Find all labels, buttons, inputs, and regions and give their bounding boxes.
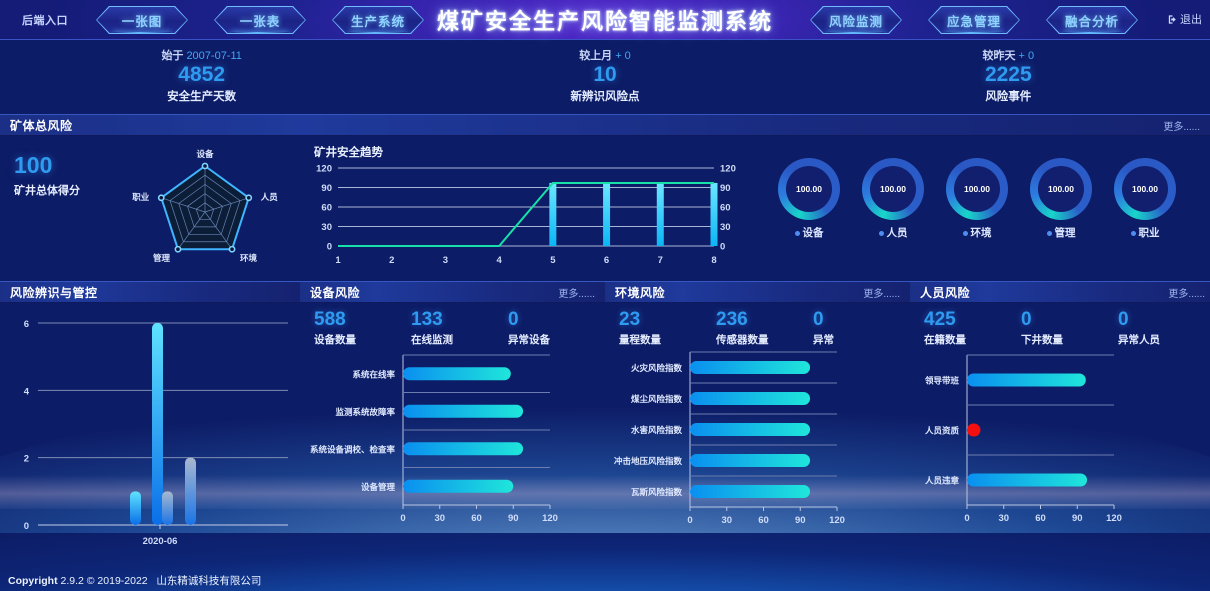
environment-stat-abnormal: 0 异常 — [813, 310, 910, 347]
risk-identify-panel-title: 风险辨识与管控 — [10, 284, 98, 301]
gauge-3: 100.00管理 — [1030, 158, 1092, 240]
svg-text:瓦斯风险指数: 瓦斯风险指数 — [631, 487, 683, 497]
svg-text:60: 60 — [758, 515, 769, 526]
gauge-label-4: 职业 — [1114, 225, 1176, 240]
hbar-chart-environment-risk: 0306090120火灾风险指数煤尘风险指数水害风险指数冲击地压风险指数瓦斯风险… — [605, 347, 910, 537]
svg-text:30: 30 — [321, 222, 332, 233]
environment-stats: 23 量程数量 236 传感器数量 0 异常 — [605, 303, 910, 347]
footer-version: 2.9.2 — [61, 575, 84, 587]
gauge-ring-1: 100.00 — [862, 158, 924, 220]
svg-text:30: 30 — [721, 515, 732, 526]
svg-text:6: 6 — [604, 255, 609, 266]
gauge-label-3: 管理 — [1030, 225, 1092, 240]
environment-stat-2-value: 0 — [813, 310, 910, 331]
svg-text:90: 90 — [1072, 513, 1083, 524]
nav-button-one-table[interactable]: 一张表 — [214, 6, 306, 34]
equipment-stat-count: 588 设备数量 — [314, 310, 411, 347]
svg-text:30: 30 — [720, 222, 731, 233]
svg-text:0: 0 — [687, 515, 692, 526]
svg-text:30: 30 — [998, 513, 1009, 524]
logout-label: 退出 — [1180, 11, 1202, 27]
gauge-1: 100.00人员 — [862, 158, 924, 240]
svg-text:90: 90 — [508, 513, 519, 524]
gauge-ring-3: 100.00 — [1030, 158, 1092, 220]
nav-button-emergency-management-label: 应急管理 — [947, 11, 1001, 30]
environment-stat-2-label: 异常 — [813, 332, 910, 347]
environment-stat-1-value: 236 — [716, 310, 813, 331]
kpi-risk-events: 较昨天+ 0 2225 风险事件 — [807, 40, 1210, 114]
kpi-1-value: 10 — [403, 63, 806, 87]
equipment-stat-0-value: 588 — [314, 310, 411, 331]
gauge-value-3: 100.00 — [1048, 184, 1074, 194]
logout-icon — [1167, 14, 1178, 25]
mine-score-and-radar: 100 矿井总体得分 设备人员环境管理职业 — [0, 136, 300, 281]
personnel-stat-1-label: 下井数量 — [1021, 332, 1118, 347]
svg-text:监测系统故障率: 监测系统故障率 — [335, 407, 395, 417]
svg-text:人员资质: 人员资质 — [925, 425, 960, 435]
total-risk-section: 矿体总风险 更多...... 100 矿井总体得分 设备人员环境管理职业 矿井安… — [0, 114, 1210, 281]
equipment-stat-online: 133 在线监测 — [411, 310, 508, 347]
line-chart-mine-safety-trend: 0030306060909012012012345678 — [306, 162, 766, 274]
svg-text:人员: 人员 — [261, 192, 279, 202]
environment-stat-range: 23 量程数量 — [619, 310, 716, 347]
kpi-new-risk-points: 较上月+ 0 10 新辨识风险点 — [403, 40, 806, 114]
kpi-2-value: 2225 — [807, 63, 1210, 87]
gauge-value-2: 100.00 — [964, 184, 990, 194]
mine-safety-trend-chart-wrap: 矿井安全趋势 0030306060909012012012345678 — [300, 136, 770, 281]
logout-button[interactable]: 退出 — [1167, 11, 1202, 27]
hbar-chart-personnel-risk: 0306090120领导带班人员资质人员违章 — [910, 347, 1210, 537]
radar-chart-total-risk: 设备人员环境管理职业 — [115, 144, 295, 274]
environment-panel-header: 环境风险 更多...... — [605, 281, 910, 303]
environment-risk-panel: 环境风险 更多...... 23 量程数量 236 传感器数量 0 异常 030… — [605, 281, 910, 558]
svg-text:60: 60 — [321, 203, 332, 214]
equipment-stats: 588 设备数量 133 在线监测 0 异常设备 — [300, 303, 605, 347]
gauge-4: 100.00职业 — [1114, 158, 1176, 240]
svg-text:0: 0 — [964, 513, 969, 524]
environment-stat-1-label: 传感器数量 — [716, 332, 813, 347]
nav-button-fusion-analysis[interactable]: 融合分析 — [1046, 6, 1138, 34]
kpi-0-compare-label: 始于 — [161, 50, 183, 62]
svg-text:水害风险指数: 水害风险指数 — [630, 425, 683, 435]
nav-button-one-map-label: 一张图 — [122, 11, 163, 30]
kpi-1-compare-value: + 0 — [615, 50, 631, 62]
risk-identify-panel-header: 风险辨识与管控 — [0, 281, 300, 303]
equipment-stat-1-value: 133 — [411, 310, 508, 331]
mine-total-score-label: 矿井总体得分 — [14, 182, 80, 198]
nav-button-production-system-label: 生产系统 — [351, 11, 405, 30]
svg-text:设备: 设备 — [196, 149, 214, 159]
environment-stat-0-value: 23 — [619, 310, 716, 331]
svg-text:4: 4 — [496, 255, 502, 266]
kpi-2-label: 风险事件 — [807, 88, 1210, 104]
mine-total-score-value: 100 — [14, 154, 80, 177]
environment-stat-sensors: 236 传感器数量 — [716, 310, 813, 347]
gauge-0: 100.00设备 — [778, 158, 840, 240]
svg-text:60: 60 — [720, 203, 731, 214]
bar-chart-risk-identify: 02462020-06 — [0, 303, 300, 558]
svg-text:0: 0 — [24, 521, 29, 532]
nav-button-fusion-analysis-label: 融合分析 — [1065, 11, 1119, 30]
kpi-2-compare-label: 较昨天 — [983, 50, 1016, 62]
svg-text:煤尘风险指数: 煤尘风险指数 — [631, 394, 683, 404]
nav-button-risk-monitoring-label: 风险监测 — [829, 11, 883, 30]
svg-text:管理: 管理 — [153, 253, 171, 263]
app-header: 后端入口 一张图 一张表 生产系统 煤矿安全生产风险智能监测系统 风险监测 应急… — [0, 0, 1210, 40]
equipment-stat-abnormal: 0 异常设备 — [508, 310, 605, 347]
equipment-panel-header: 设备风险 更多...... — [300, 281, 605, 303]
kpi-0-label: 安全生产天数 — [0, 88, 403, 104]
equipment-panel-title: 设备风险 — [310, 284, 360, 301]
gauge-label-2: 环境 — [946, 225, 1008, 240]
personnel-stat-2-value: 0 — [1118, 310, 1210, 331]
equipment-more-link[interactable]: 更多...... — [558, 285, 595, 300]
equipment-risk-panel: 设备风险 更多...... 588 设备数量 133 在线监测 0 异常设备 0… — [300, 281, 605, 558]
svg-text:120: 120 — [1106, 513, 1122, 524]
personnel-stats: 425 在籍数量 0 下井数量 0 异常人员 — [910, 303, 1210, 347]
category-gauges-wrap: 100.00设备100.00人员100.00环境100.00管理100.00职业 — [770, 136, 1210, 281]
footer-copyright-label: Copyright — [8, 575, 58, 587]
svg-text:7: 7 — [658, 255, 663, 266]
svg-text:90: 90 — [795, 515, 806, 526]
bottom-panels-row: 风险辨识与管控 02462020-06 设备风险 更多...... 588 设备… — [0, 281, 1210, 558]
personnel-risk-panel: 人员风险 更多...... 425 在籍数量 0 下井数量 0 异常人员 030… — [910, 281, 1210, 558]
gauge-value-0: 100.00 — [796, 184, 822, 194]
nav-button-one-table-label: 一张表 — [240, 11, 281, 30]
personnel-stat-2-label: 异常人员 — [1118, 332, 1210, 347]
kpi-safe-production-days: 始于2007-07-11 4852 安全生产天数 — [0, 40, 403, 114]
total-risk-body: 100 矿井总体得分 设备人员环境管理职业 矿井安全趋势 00303060609… — [0, 136, 1210, 281]
footer-years: © 2019-2022 — [87, 575, 148, 587]
svg-text:环境: 环境 — [240, 253, 258, 263]
total-risk-panel-header: 矿体总风险 更多...... — [0, 114, 1210, 136]
svg-text:2: 2 — [24, 454, 29, 465]
environment-stat-0-label: 量程数量 — [619, 332, 716, 347]
gauge-value-4: 100.00 — [1132, 184, 1158, 194]
svg-text:火灾风险指数: 火灾风险指数 — [631, 363, 683, 373]
gauge-ring-0: 100.00 — [778, 158, 840, 220]
equipment-stat-2-value: 0 — [508, 310, 605, 331]
svg-text:0: 0 — [720, 242, 725, 253]
kpi-1-label: 新辨识风险点 — [403, 88, 806, 104]
kpi-2-compare-value: + 0 — [1019, 50, 1035, 62]
svg-text:90: 90 — [720, 183, 731, 194]
gauge-label-1: 人员 — [862, 225, 924, 240]
footer-company: 山东精诚科技有限公司 — [156, 575, 261, 587]
nav-button-risk-monitoring[interactable]: 风险监测 — [810, 6, 902, 34]
personnel-stat-registered: 425 在籍数量 — [924, 310, 1021, 347]
equipment-stat-0-label: 设备数量 — [314, 332, 411, 347]
svg-text:1: 1 — [335, 255, 341, 266]
gauge-value-1: 100.00 — [880, 184, 906, 194]
primary-nav-left: 一张图 一张表 生产系统 — [96, 6, 424, 34]
nav-button-emergency-management[interactable]: 应急管理 — [928, 6, 1020, 34]
svg-text:120: 120 — [316, 164, 332, 175]
svg-text:8: 8 — [711, 255, 716, 266]
svg-text:职业: 职业 — [132, 192, 150, 202]
equipment-stat-1-label: 在线监测 — [411, 332, 508, 347]
primary-nav-right: 风险监测 应急管理 融合分析 — [810, 6, 1138, 34]
personnel-stat-1-value: 0 — [1021, 310, 1118, 331]
personnel-stat-0-label: 在籍数量 — [924, 332, 1021, 347]
svg-text:120: 120 — [720, 164, 736, 175]
mine-safety-trend-title: 矿井安全趋势 — [314, 144, 383, 160]
gauge-ring-2: 100.00 — [946, 158, 1008, 220]
hbar-chart-equipment-risk: 0306090120系统在线率监测系统故障率系统设备调校、检查率设备管理 — [300, 347, 605, 537]
svg-text:2: 2 — [389, 255, 394, 266]
footer: Copyright 2.9.2 © 2019-2022 山东精诚科技有限公司 — [0, 573, 1210, 588]
backend-entry-link[interactable]: 后端入口 — [22, 12, 68, 28]
svg-text:0: 0 — [327, 242, 332, 253]
category-gauges: 100.00设备100.00人员100.00环境100.00管理100.00职业 — [778, 158, 1176, 240]
svg-text:60: 60 — [471, 513, 482, 524]
svg-text:6: 6 — [24, 319, 29, 330]
personnel-panel-title: 人员风险 — [920, 284, 970, 301]
svg-text:系统设备调校、检查率: 系统设备调校、检查率 — [310, 444, 396, 454]
mine-total-score: 100 矿井总体得分 — [14, 154, 80, 198]
total-risk-panel-title: 矿体总风险 — [10, 117, 73, 134]
kpi-1-compare-label: 较上月 — [579, 50, 612, 62]
personnel-stat-abnormal: 0 异常人员 — [1118, 310, 1210, 347]
equipment-stat-2-label: 异常设备 — [508, 332, 605, 347]
svg-text:人员违章: 人员违章 — [925, 475, 960, 485]
svg-text:5: 5 — [550, 255, 556, 266]
gauge-label-0: 设备 — [778, 225, 840, 240]
nav-button-one-map[interactable]: 一张图 — [96, 6, 188, 34]
kpi-0-compare-value: 2007-07-11 — [186, 50, 241, 62]
personnel-panel-header: 人员风险 更多...... — [910, 281, 1210, 303]
svg-text:3: 3 — [443, 255, 448, 266]
svg-text:系统在线率: 系统在线率 — [352, 369, 395, 379]
svg-text:120: 120 — [829, 515, 845, 526]
svg-text:设备管理: 设备管理 — [361, 482, 396, 492]
svg-text:120: 120 — [542, 513, 558, 524]
svg-text:4: 4 — [24, 386, 30, 397]
svg-text:60: 60 — [1035, 513, 1046, 524]
nav-button-production-system[interactable]: 生产系统 — [332, 6, 424, 34]
gauge-2: 100.00环境 — [946, 158, 1008, 240]
personnel-more-link[interactable]: 更多...... — [1168, 285, 1205, 300]
environment-panel-title: 环境风险 — [615, 284, 665, 301]
kpi-0-value: 4852 — [0, 63, 403, 87]
total-risk-more-link[interactable]: 更多...... — [1163, 118, 1200, 133]
environment-more-link[interactable]: 更多...... — [863, 285, 900, 300]
svg-text:冲击地压风险指数: 冲击地压风险指数 — [614, 456, 683, 466]
risk-identify-panel: 风险辨识与管控 02462020-06 — [0, 281, 300, 558]
svg-text:90: 90 — [321, 183, 332, 194]
svg-text:2020-06: 2020-06 — [143, 536, 178, 547]
personnel-stat-0-value: 425 — [924, 310, 1021, 331]
kpi-row: 始于2007-07-11 4852 安全生产天数 较上月+ 0 10 新辨识风险… — [0, 40, 1210, 114]
gauge-ring-4: 100.00 — [1114, 158, 1176, 220]
svg-text:30: 30 — [434, 513, 445, 524]
svg-text:0: 0 — [400, 513, 405, 524]
personnel-stat-underground: 0 下井数量 — [1021, 310, 1118, 347]
svg-text:领导带班: 领导带班 — [924, 375, 960, 385]
